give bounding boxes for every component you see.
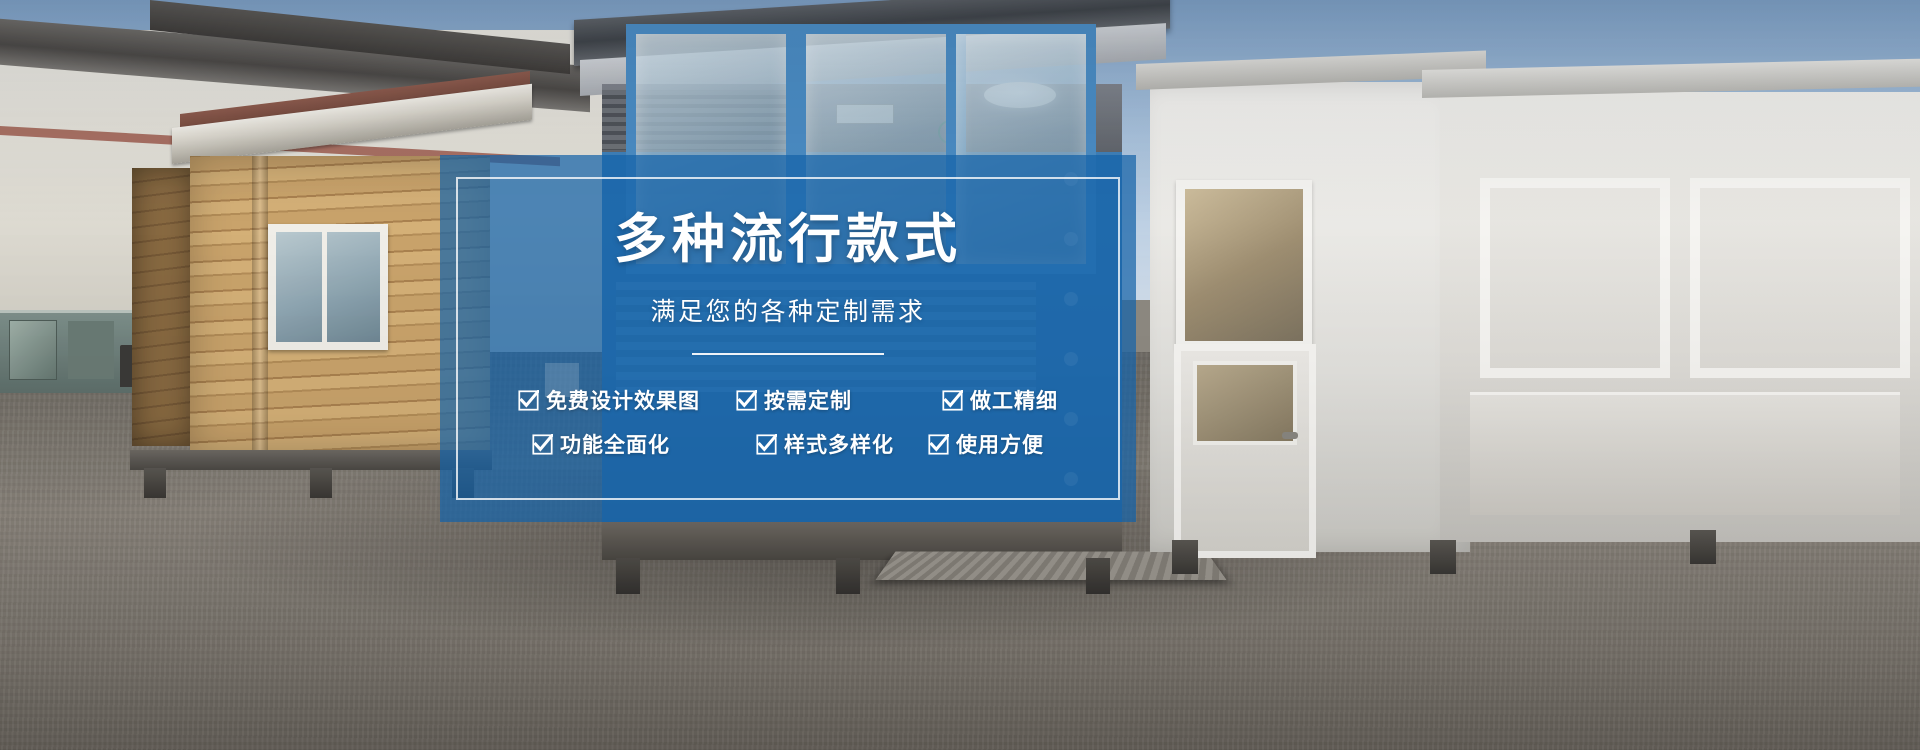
feature-item: 功能全面化 (532, 429, 670, 459)
cabin-base (130, 450, 492, 470)
cabin-window (268, 224, 388, 350)
cabin-leg (310, 468, 332, 498)
cabin-side-wall (132, 168, 194, 446)
checkbox-checked-icon (756, 434, 777, 455)
feature-label: 样式多样化 (784, 429, 894, 459)
unit-window (1690, 178, 1910, 378)
booth-leg (1086, 558, 1110, 594)
door-handle (1282, 432, 1298, 439)
feature-label: 功能全面化 (560, 429, 670, 459)
feature-item: 使用方便 (928, 429, 1044, 459)
feature-label: 按需定制 (764, 385, 852, 415)
checkbox-checked-icon (736, 390, 757, 411)
feature-row-2: 功能全面化 样式多样化 (532, 429, 1044, 459)
unit-leg (1690, 530, 1716, 564)
checkbox-checked-icon (942, 390, 963, 411)
divider (692, 353, 884, 355)
feature-label: 使用方便 (956, 429, 1044, 459)
feature-row-1: 免费设计效果图 按需定制 (518, 385, 1058, 415)
unit-leg (1172, 540, 1198, 574)
banner-subtitle: 满足您的各种定制需求 (650, 300, 925, 325)
glass-panels-stack (0, 310, 140, 393)
feature-item: 免费设计效果图 (518, 385, 700, 415)
checkbox-checked-icon (928, 434, 949, 455)
cabin-leg (144, 468, 166, 498)
feature-label: 做工精细 (970, 385, 1058, 415)
feature-item: 做工精细 (942, 385, 1058, 415)
feature-item: 按需定制 (736, 385, 852, 415)
feature-item: 样式多样化 (756, 429, 894, 459)
checkbox-checked-icon (532, 434, 553, 455)
feature-list: 免费设计效果图 按需定制 (440, 385, 1136, 459)
white-container-unit-a (1150, 82, 1470, 552)
promo-banner-overlay: 多种流行款式 满足您的各种定制需求 免费设计效果图 (440, 155, 1136, 522)
unit-leg (1430, 540, 1456, 574)
banner-screenshot: 多种流行款式 满足您的各种定制需求 免费设计效果图 (0, 0, 1920, 750)
page-title: 多种流行款式 (614, 213, 962, 266)
unit-window (1176, 180, 1312, 350)
unit-window (1480, 178, 1670, 378)
feature-label: 免费设计效果图 (546, 385, 700, 415)
checkbox-checked-icon (518, 390, 539, 411)
booth-leg (616, 558, 640, 594)
booth-leg (836, 558, 860, 594)
banner-content: 多种流行款式 满足您的各种定制需求 免费设计效果图 (440, 155, 1136, 522)
white-container-unit-b (1440, 92, 1920, 542)
unit-door (1174, 344, 1316, 558)
unit-lower-panel (1470, 392, 1900, 515)
